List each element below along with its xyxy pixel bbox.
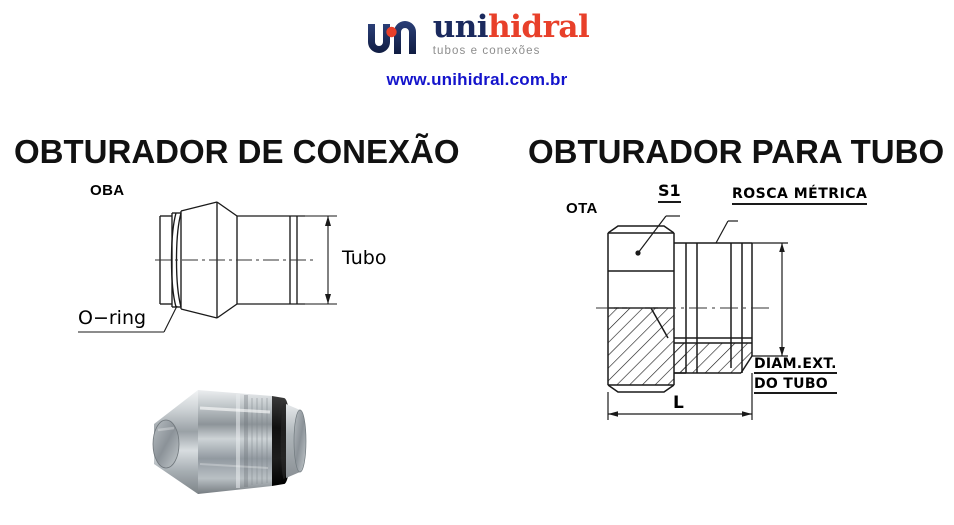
section-title-left: OBTURADOR DE CONEXÃO [14,133,460,171]
drawing-code-oba: OBA [90,182,125,199]
drawing-obturador-de-conexao: OBA Tubo O−ring [60,180,390,355]
brand-logo: unihidral tubos e conexões [0,12,954,63]
product-photo-obturador [140,368,340,525]
label-o-ring: O−ring [78,307,146,329]
label-l-dimension: L [673,393,684,413]
drawing-obturador-para-tubo: OTA S1 ROSCA MÉTRICA DIAM.EXT. DO TUBO L [556,178,886,428]
logo-tagline: tubos e conexões [433,46,541,58]
page-root: unihidral tubos e conexões www.unihidral… [0,0,954,520]
logo-word-hidral: hidral [488,9,589,45]
label-diam-ext-line1: DIAM.EXT. [754,356,837,374]
dim-arrow-bottom [325,294,331,304]
un-monogram-icon [365,12,423,58]
label-diam-ext-line2: DO TUBO [754,376,837,394]
dim-arrow-top [325,216,331,226]
drawing-code-ota: OTA [566,200,598,217]
label-rosca-metrica: ROSCA MÉTRICA [732,187,867,205]
label-s1: S1 [658,183,681,203]
logo-word-uni: uni [433,9,488,45]
label-diam-ext-do-tubo: DIAM.EXT. DO TUBO [754,356,837,394]
label-tubo: Tubo [342,247,386,269]
section-title-right: OBTURADOR PARA TUBO [528,133,944,171]
website-url[interactable]: www.unihidral.com.br [0,70,954,90]
